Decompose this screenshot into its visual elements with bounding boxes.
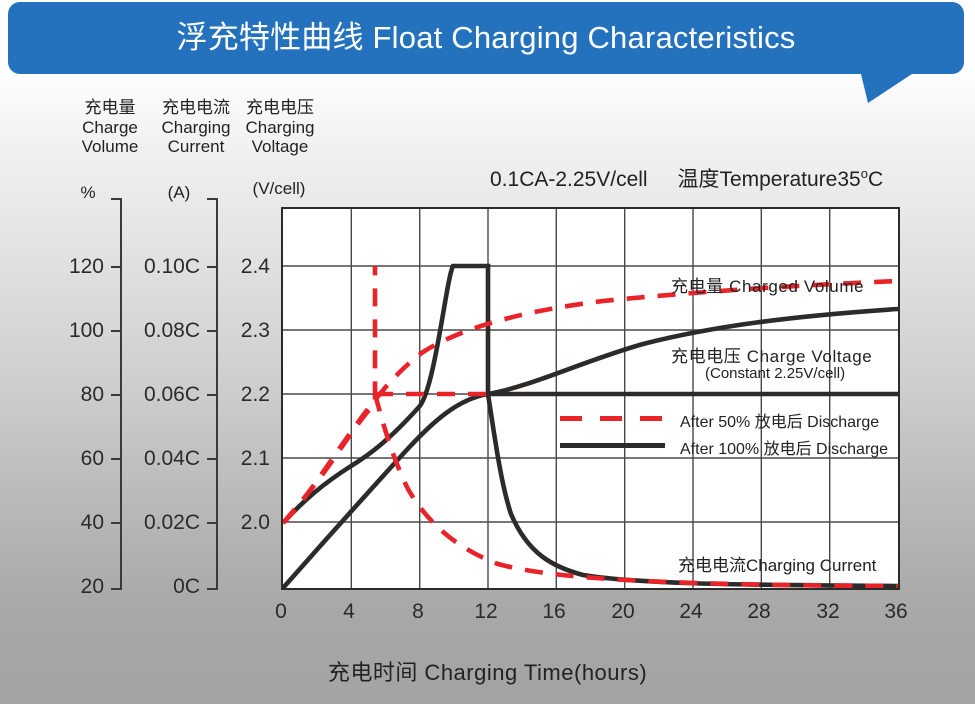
axis-heading-charge-volume: 充电量 Charge Volume (62, 98, 158, 157)
axis-label-voltage-22: 2.2 (228, 383, 270, 407)
axis-tick (207, 458, 216, 460)
axis-tick (111, 198, 120, 200)
legend-label-100: After 100% 放电后 Discharge (680, 435, 888, 459)
legend-label-50: After 50% 放电后 Discharge (680, 408, 879, 432)
label-charging-current: 充电电流Charging Current (678, 551, 876, 576)
axis-tick (111, 588, 120, 590)
axis-label-volume-80: 80 (38, 383, 104, 407)
axis-line-charge-volume (120, 198, 122, 590)
axis-heading-cn: 充电量 (62, 98, 158, 118)
x-tick-16: 16 (534, 600, 574, 624)
x-tick-20: 20 (603, 600, 643, 624)
x-tick-36: 36 (876, 600, 916, 624)
chart-condition-annotation: 0.1CA-2.25V/cell 温度Temperature35oC (490, 163, 883, 193)
axis-unit-volt-cell: (V/cell) (228, 179, 330, 199)
axis-label-current-010C: 0.10C (126, 255, 200, 279)
axis-tick (111, 458, 120, 460)
x-tick-28: 28 (739, 600, 779, 624)
axis-unit-ampere: (A) (148, 183, 210, 203)
x-tick-0: 0 (261, 600, 301, 624)
label-charge-voltage: 充电电压 Charge Voltage (671, 342, 872, 367)
axis-label-current-004C: 0.04C (126, 447, 200, 471)
axis-tick (207, 330, 216, 332)
axis-label-current-006C: 0.06C (126, 383, 200, 407)
axis-line-charging-current (216, 198, 218, 590)
x-tick-4: 4 (329, 600, 369, 624)
x-tick-12: 12 (466, 600, 506, 624)
axis-heading-cn: 充电电压 (232, 98, 328, 118)
label-charged-volume: 充电量 Charged Volume (671, 272, 864, 297)
axis-heading-en-1: Charging (232, 118, 328, 138)
axis-tick (207, 394, 216, 396)
axis-label-voltage-21: 2.1 (228, 447, 270, 471)
x-axis-title: 充电时间 Charging Time(hours) (0, 655, 975, 687)
header-banner-tail (860, 70, 930, 104)
axis-label-volume-40: 40 (38, 511, 104, 535)
axis-heading-en-1: Charging (148, 118, 244, 138)
legend-swatch-dashed-icon (560, 416, 665, 421)
axis-label-current-0C: 0C (126, 575, 200, 599)
temperature-label-en: Temperature35 (719, 168, 860, 191)
condition-text: 0.1CA-2.25V/cell (490, 168, 648, 191)
axis-heading-charging-current: 充电电流 Charging Current (148, 98, 244, 157)
chart-curves (283, 209, 898, 588)
degree-icon: o (861, 166, 868, 181)
legend-swatch-solid-icon (560, 443, 665, 448)
axis-label-volume-100: 100 (38, 319, 104, 343)
axis-tick (207, 522, 216, 524)
axis-tick (111, 266, 120, 268)
axis-tick (207, 588, 216, 590)
axis-heading-charging-voltage: 充电电压 Charging Voltage (232, 98, 328, 157)
axis-heading-en-1: Charge (62, 118, 158, 138)
axis-label-current-002C: 0.02C (126, 511, 200, 535)
axis-label-voltage-23: 2.3 (228, 319, 270, 343)
axis-label-voltage-24: 2.4 (228, 255, 270, 279)
temperature-label-cn: 温度 (677, 168, 719, 191)
axis-unit-percent: % (62, 183, 114, 203)
header-banner: 浮充特性曲线 Float Charging Characteristics (8, 2, 964, 74)
x-tick-32: 32 (808, 600, 848, 624)
axis-label-volume-60: 60 (38, 447, 104, 471)
axis-heading-cn: 充电电流 (148, 98, 244, 118)
axis-heading-en-2: Volume (62, 137, 158, 157)
axis-tick (207, 198, 216, 200)
axis-tick (111, 330, 120, 332)
temperature-unit: C (868, 168, 883, 191)
axis-heading-en-2: Current (148, 137, 244, 157)
axis-heading-en-2: Voltage (232, 137, 328, 157)
page-title: 浮充特性曲线 Float Charging Characteristics (177, 21, 796, 55)
axis-label-volume-20: 20 (38, 575, 104, 599)
label-charge-voltage-sub: (Constant 2.25V/cell) (705, 365, 845, 382)
axis-tick (111, 522, 120, 524)
axis-tick (111, 394, 120, 396)
x-tick-8: 8 (398, 600, 438, 624)
x-tick-24: 24 (671, 600, 711, 624)
axis-label-current-008C: 0.08C (126, 319, 200, 343)
chart-plot-area: 充电量 Charged Volume 充电电压 Charge Voltage (… (281, 207, 900, 590)
axis-label-volume-120: 120 (38, 255, 104, 279)
axis-tick (207, 266, 216, 268)
axis-label-voltage-20: 2.0 (228, 511, 270, 535)
